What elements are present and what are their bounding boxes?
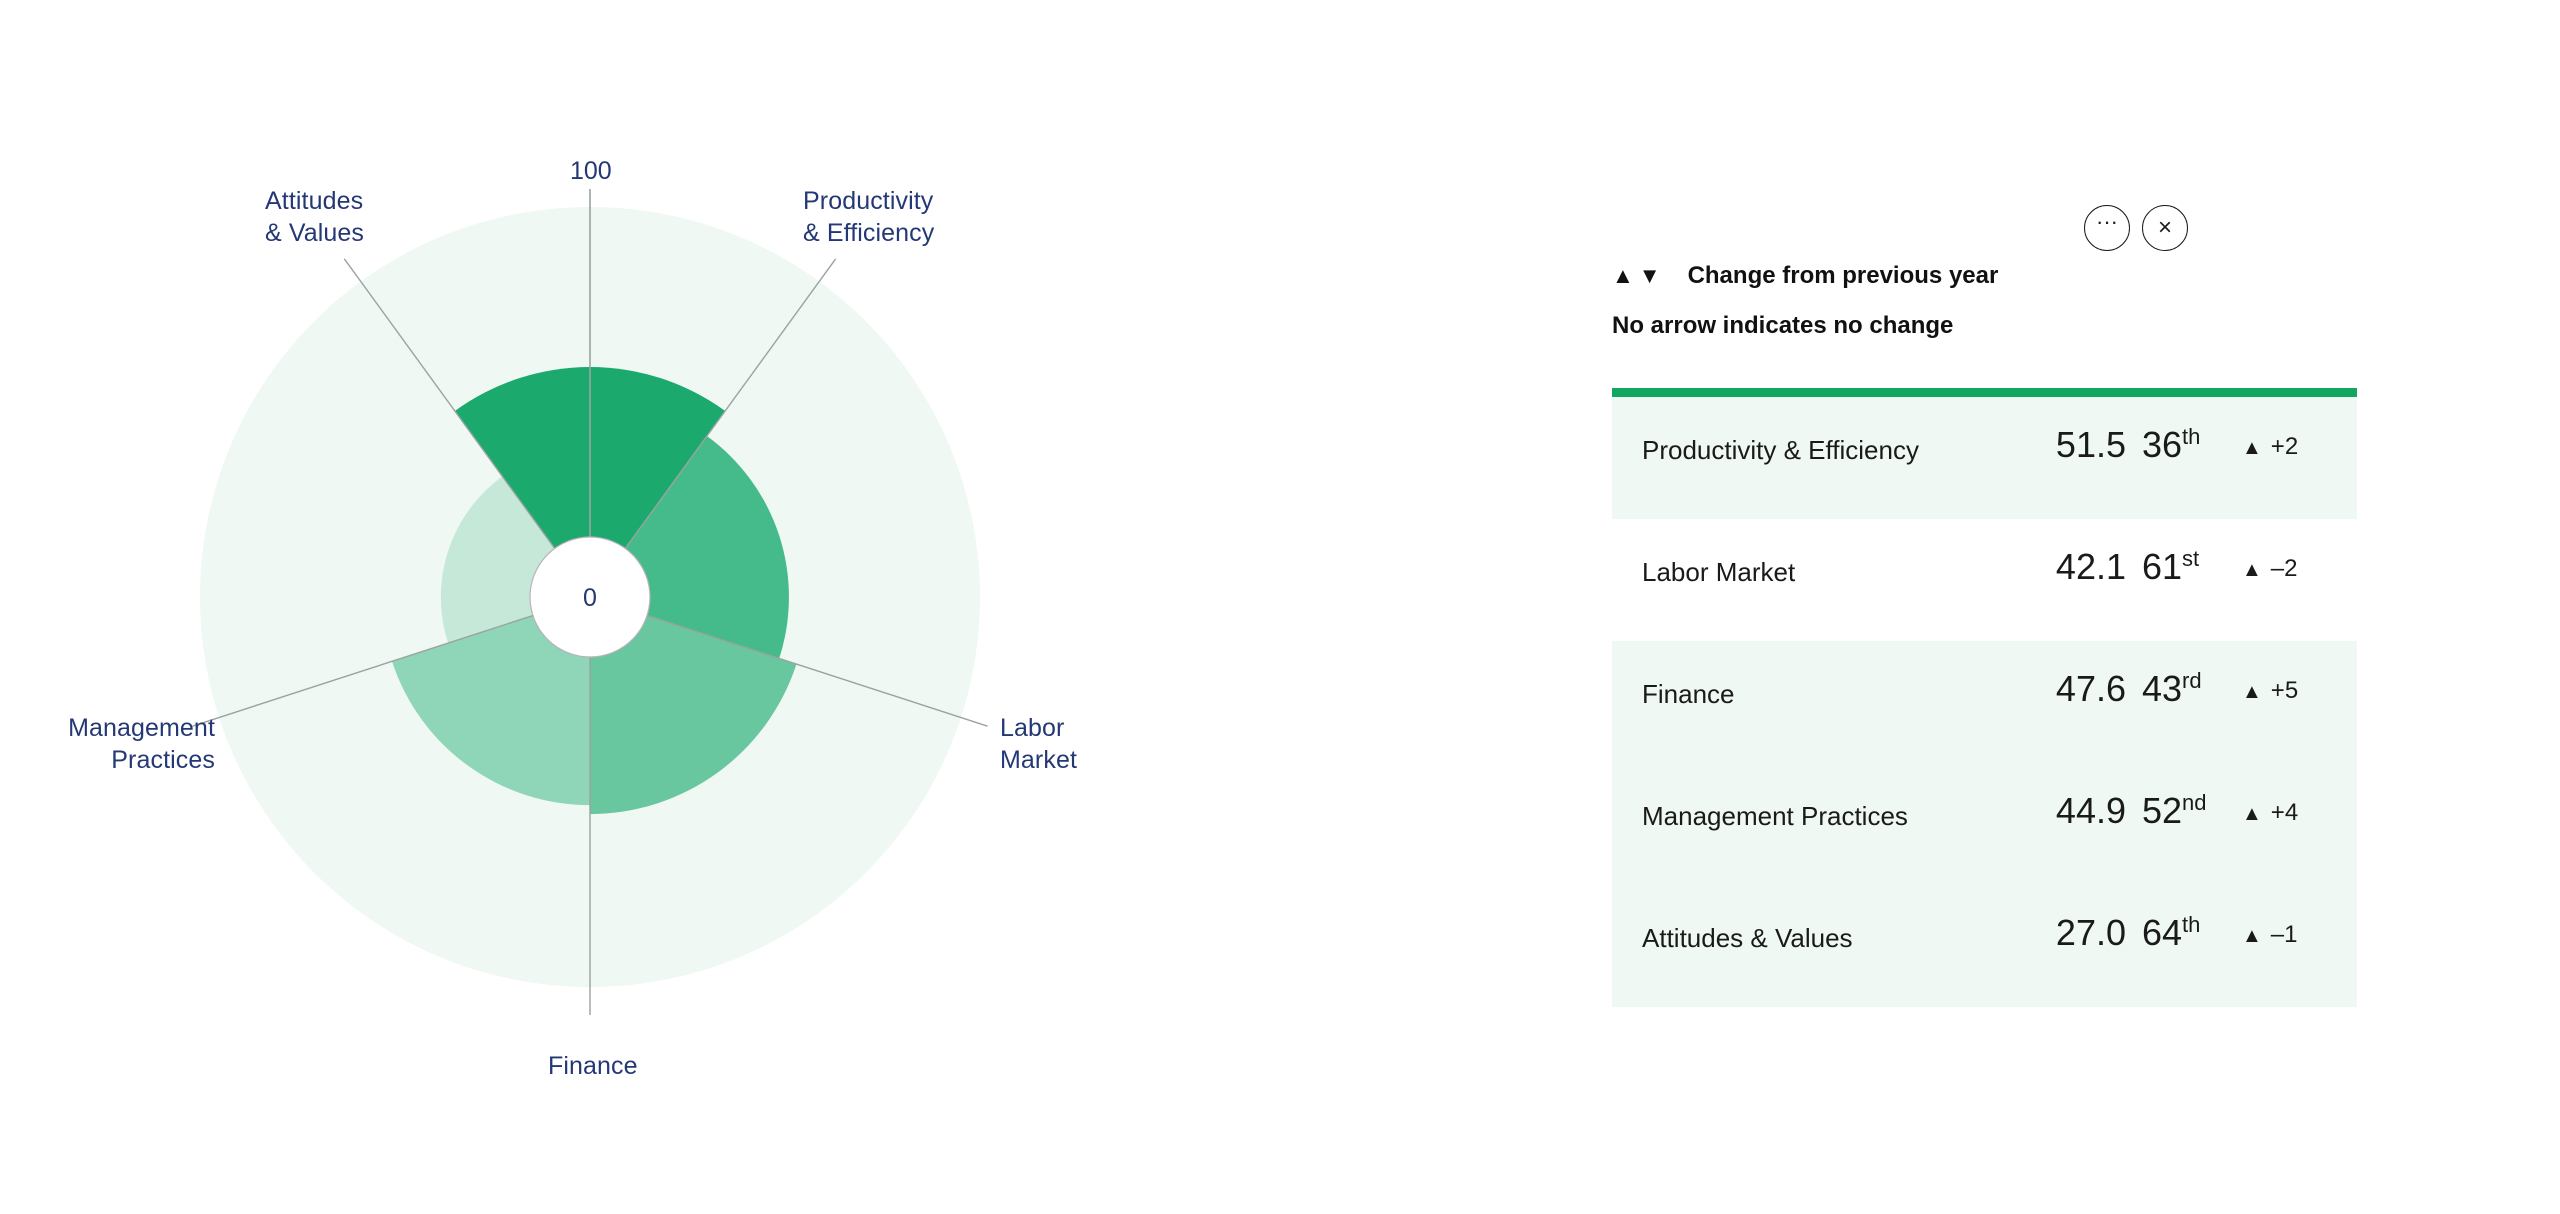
axis-label-finance: Finance <box>548 1050 638 1082</box>
table-row[interactable]: Productivity & Efficiency51.536th▲+2 <box>1612 397 2357 519</box>
legend-change-text: Change from previous year <box>1688 262 1999 290</box>
close-icon[interactable]: × <box>2142 205 2188 251</box>
legend-row-no-change: No arrow indicates no change <box>1612 312 2372 340</box>
change-legend: ▲▼ Change from previous year No arrow in… <box>1612 262 2372 340</box>
table-row[interactable]: Labor Market42.161st▲–2 <box>1612 519 2357 641</box>
change-arrow-icon: ▲ <box>2242 925 2262 947</box>
row-rank-value: 61st <box>2142 546 2220 588</box>
axis-label-attitudes-values: Attitudes & Values <box>265 185 364 249</box>
row-rank-suffix: th <box>2182 424 2200 449</box>
table-row[interactable]: Management Practices44.952nd▲+4 <box>1612 763 2357 885</box>
row-rank-suffix: nd <box>2182 790 2206 815</box>
rose-chart-panel: 0 100 Productivity & Efficiency Labor Ma… <box>0 0 1560 1214</box>
up-down-arrows-icon: ▲▼ <box>1612 263 1666 289</box>
legend-no-change-text: No arrow indicates no change <box>1612 312 1953 340</box>
row-change-value: ▲–2 <box>2242 555 2298 583</box>
axis-tick-max: 100 <box>570 157 612 186</box>
change-arrow-icon: ▲ <box>2242 559 2262 581</box>
row-rank-value: 52nd <box>2142 790 2220 832</box>
rose-chart-geometry: 0 <box>192 189 987 1015</box>
row-category-label: Attitudes & Values <box>1642 923 1853 954</box>
change-arrow-icon: ▲ <box>2242 437 2262 459</box>
row-score-value: 47.6 <box>2036 668 2126 710</box>
row-category-label: Finance <box>1642 679 1735 710</box>
legend-row-change: ▲▼ Change from previous year <box>1612 262 2372 290</box>
row-score-value: 44.9 <box>2036 790 2126 832</box>
table-row[interactable]: Finance47.643rd▲+5 <box>1612 641 2357 763</box>
axis-label-labor-market: Labor Market <box>1000 712 1060 776</box>
table-row[interactable]: Attitudes & Values27.064th▲–1 <box>1612 885 2357 1007</box>
axis-label-management-practices: Management Practices <box>40 712 215 776</box>
row-score-value: 51.5 <box>2036 424 2126 466</box>
panel-controls: ··· × <box>2084 205 2188 251</box>
row-rank-value: 64th <box>2142 912 2220 954</box>
table-accent-bar <box>1612 388 2357 397</box>
row-category-label: Management Practices <box>1642 801 1908 832</box>
axis-tick-min: 0 <box>583 584 597 612</box>
ranking-panel: ··· × ▲▼ Change from previous year No ar… <box>1612 0 2372 1214</box>
change-arrow-icon: ▲ <box>2242 681 2262 703</box>
row-score-value: 42.1 <box>2036 546 2126 588</box>
row-rank-value: 36th <box>2142 424 2220 466</box>
row-change-value: ▲–1 <box>2242 921 2298 949</box>
row-category-label: Labor Market <box>1642 557 1795 588</box>
row-rank-value: 43rd <box>2142 668 2220 710</box>
row-rank-suffix: rd <box>2182 668 2202 693</box>
score-table: Productivity & Efficiency51.536th▲+2Labo… <box>1612 388 2357 1007</box>
row-rank-suffix: st <box>2182 546 2199 571</box>
row-score-value: 27.0 <box>2036 912 2126 954</box>
rose-chart-svg: 0 <box>0 0 1560 1214</box>
table-body: Productivity & Efficiency51.536th▲+2Labo… <box>1612 397 2357 1007</box>
row-rank-suffix: th <box>2182 912 2200 937</box>
change-arrow-icon: ▲ <box>2242 803 2262 825</box>
row-category-label: Productivity & Efficiency <box>1642 435 1919 466</box>
row-change-value: ▲+4 <box>2242 799 2298 827</box>
row-change-value: ▲+5 <box>2242 677 2298 705</box>
axis-label-productivity-efficiency: Productivity & Efficiency <box>803 185 934 249</box>
more-options-icon[interactable]: ··· <box>2084 205 2130 251</box>
row-change-value: ▲+2 <box>2242 433 2298 461</box>
